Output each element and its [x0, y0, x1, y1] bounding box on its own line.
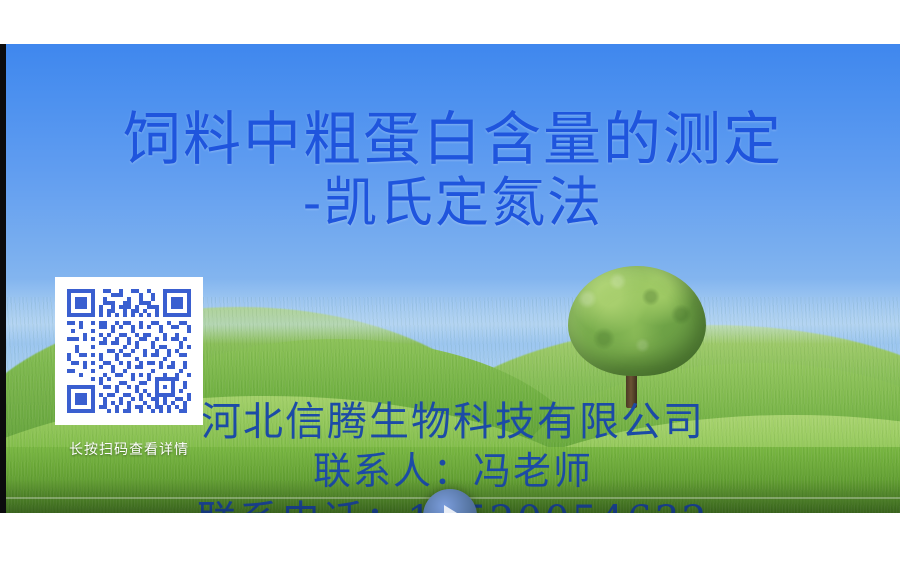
screenshot-root: 饲料中粗蛋白含量的测定 -凯氏定氮法 [0, 0, 900, 561]
page-top-margin [0, 0, 900, 44]
play-triangle-icon [444, 505, 457, 513]
page-bottom-margin [0, 513, 900, 561]
player-left-bezel [0, 44, 6, 513]
slide-title-primary: 饲料中粗蛋白含量的测定 [6, 108, 900, 171]
tree-canopy [568, 266, 706, 376]
qr-code-caption: 长按扫码查看详情 [55, 439, 203, 459]
slide-title-block: 饲料中粗蛋白含量的测定 -凯氏定氮法 [6, 108, 900, 232]
video-player-frame[interactable]: 饲料中粗蛋白含量的测定 -凯氏定氮法 [0, 44, 900, 513]
slide-scene: 饲料中粗蛋白含量的测定 -凯氏定氮法 [6, 44, 900, 513]
tree-illustration [562, 266, 712, 416]
qr-code-svg [55, 277, 203, 425]
slide-title-secondary: -凯氏定氮法 [6, 173, 900, 232]
qr-code-image[interactable] [55, 277, 203, 425]
qr-code-block[interactable]: 长按扫码查看详情 [55, 277, 203, 459]
